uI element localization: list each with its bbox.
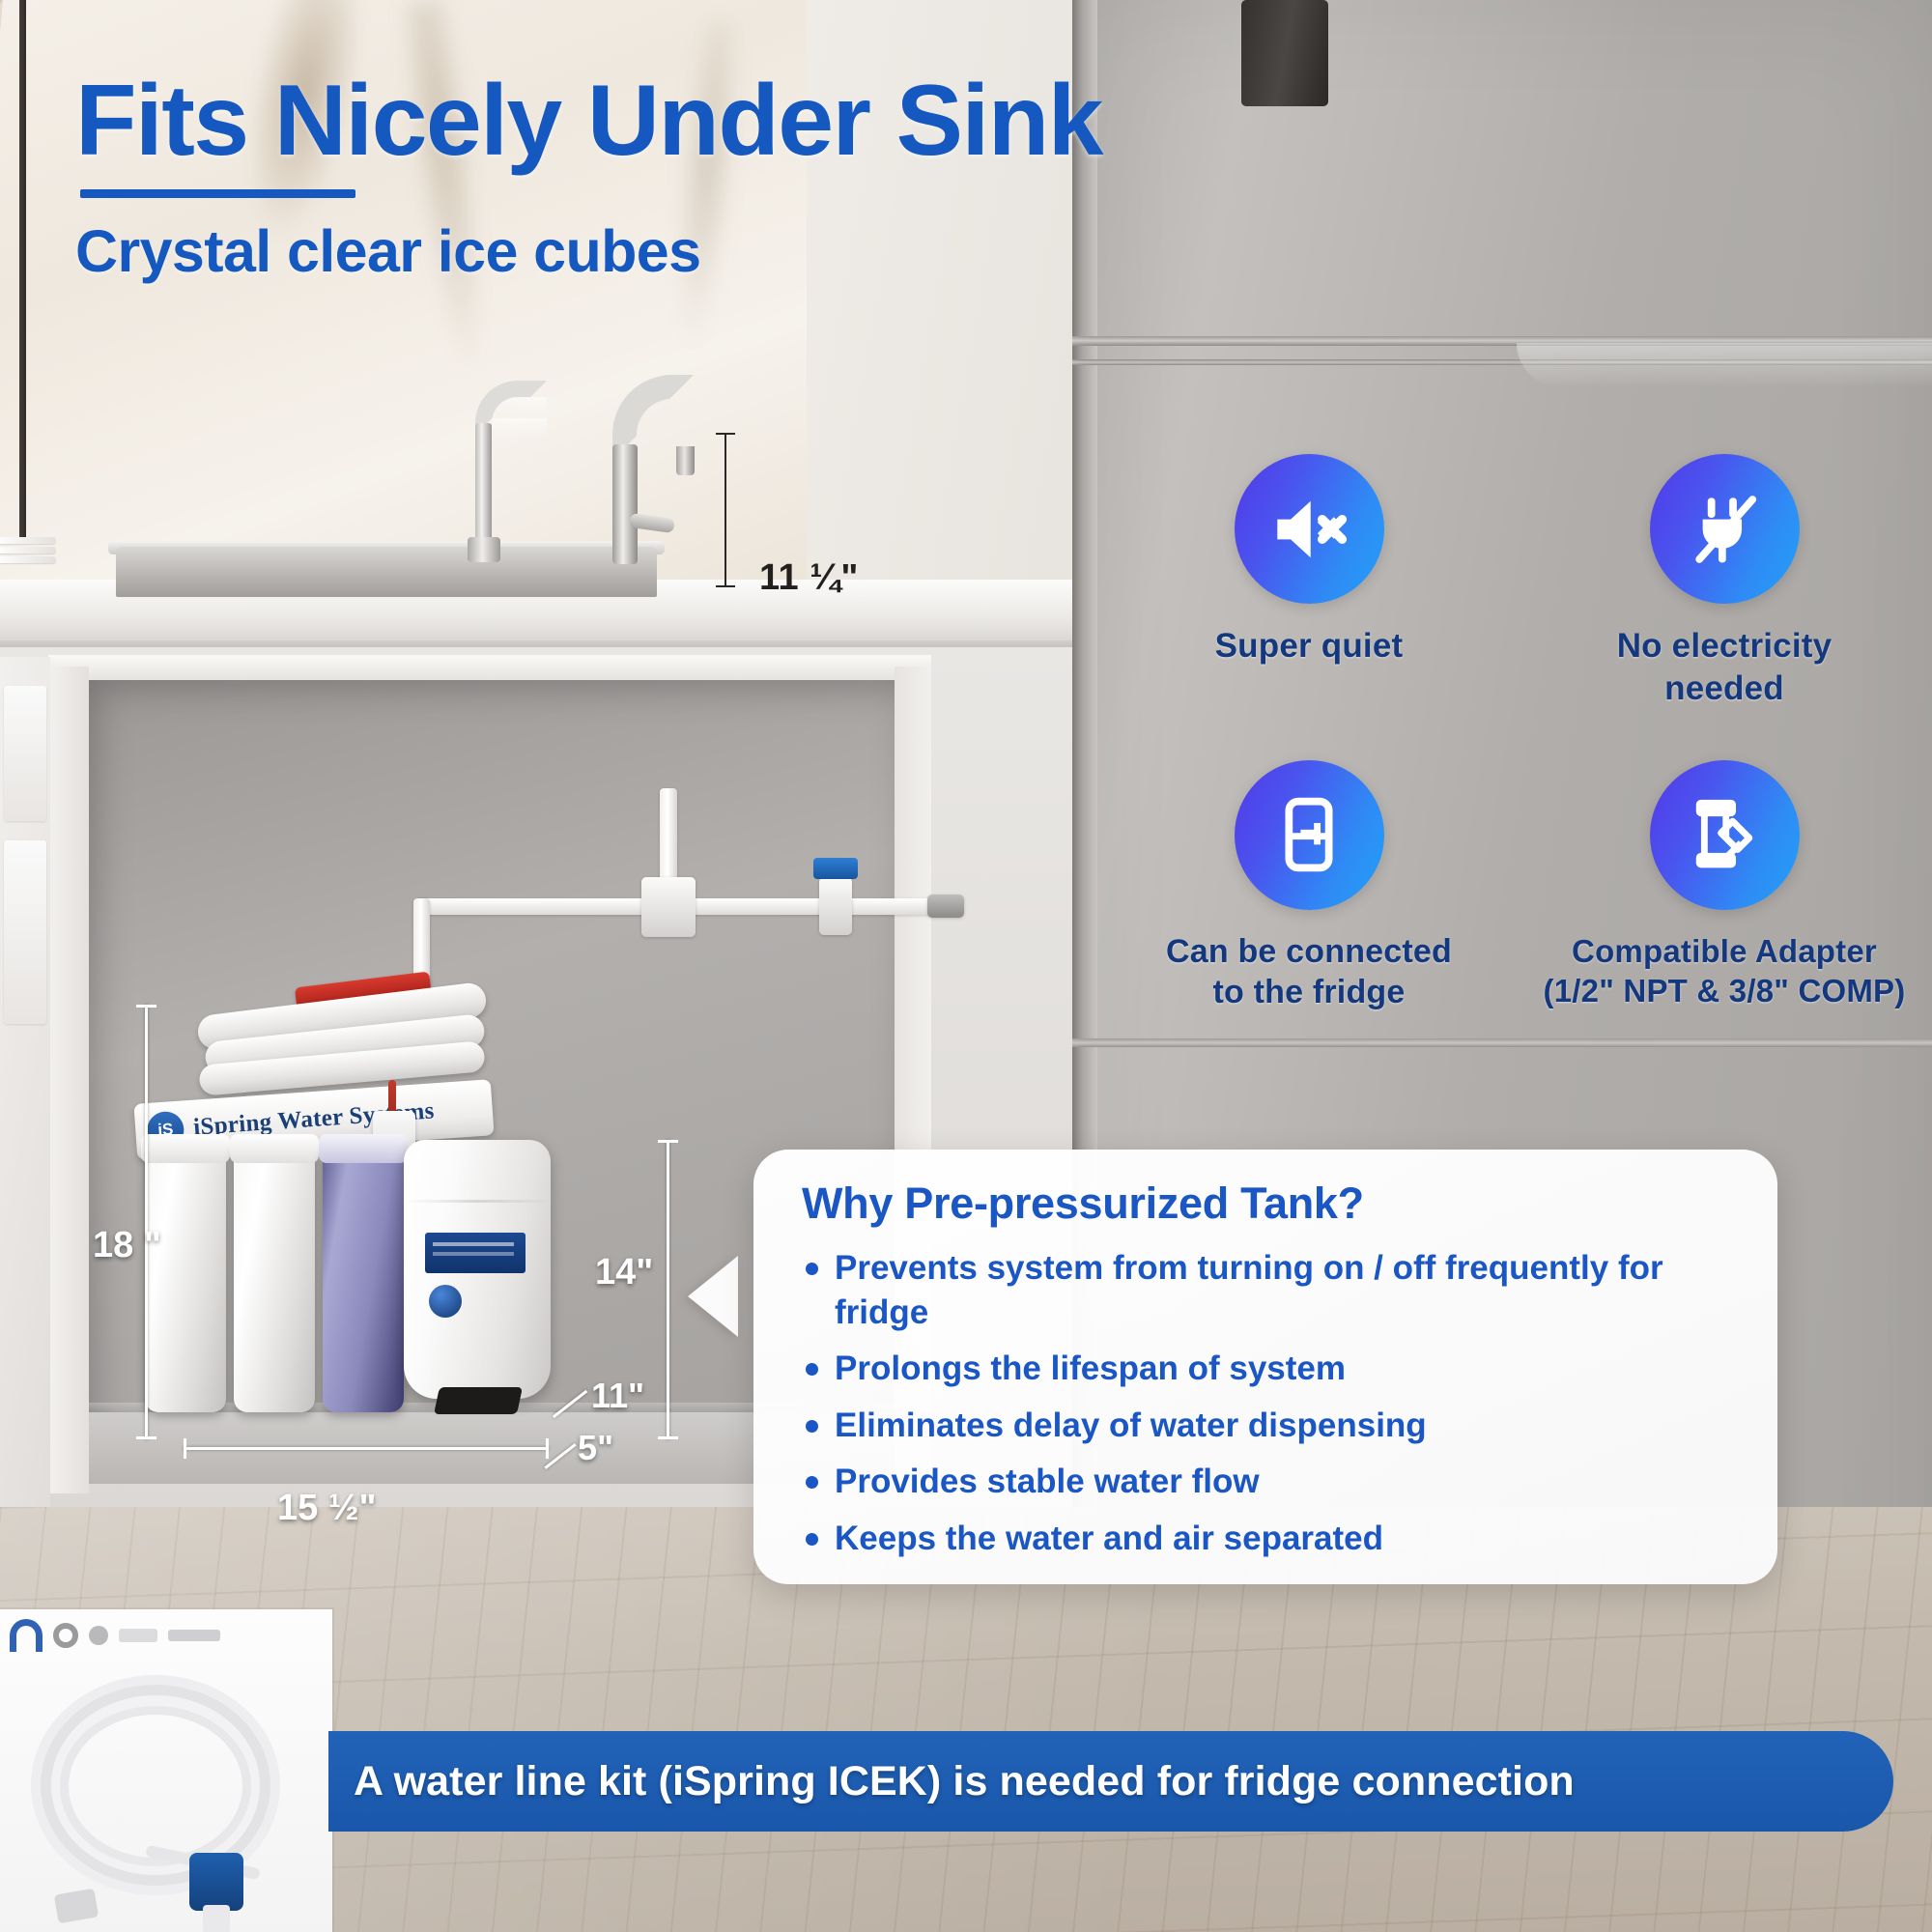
filter-housing-2 (234, 1146, 315, 1412)
filter-housing-3-clear (323, 1146, 404, 1412)
tank-valve-knob (429, 1285, 462, 1318)
list-item: Prolongs the lifespan of system (802, 1347, 1735, 1391)
tank-height-label: 14" (595, 1252, 653, 1293)
tank-height-dimension-line (667, 1140, 669, 1439)
feature-label: No electricityneeded (1617, 625, 1833, 710)
filter-housings (145, 1146, 435, 1435)
speaker-mute-icon (1235, 454, 1384, 604)
system-height-dimension-line (145, 1005, 148, 1439)
feature-label: Can be connectedto the fridge (1166, 931, 1452, 1013)
faucet-height-dimension-line (724, 433, 726, 587)
filter-housing-1 (145, 1146, 226, 1412)
fridge-connection-icon (1235, 760, 1384, 910)
cabinet-frame-left (48, 667, 89, 1493)
washer-icon (89, 1626, 108, 1645)
system-height-label: 18 " (93, 1225, 161, 1266)
pipe-adapter-icon (1650, 760, 1800, 910)
kit-small-parts (10, 1619, 220, 1652)
water-line-kit-banner: A water line kit (iSpring ICEK) is neede… (328, 1731, 1893, 1832)
tube-insert-icon (168, 1630, 220, 1641)
cabinet-top-rail (48, 655, 931, 680)
u-clip-icon (10, 1619, 43, 1652)
tank-sticker (425, 1233, 526, 1273)
callout-pointer (688, 1256, 738, 1337)
page-title: Fits Nicely Under Sink (75, 70, 1235, 172)
system-depth-label: 5" (578, 1428, 613, 1468)
product-infographic: 11 ¼" iS iSpring Water Systems (0, 0, 1932, 1932)
shutoff-body (819, 877, 852, 935)
feature-fridge-connection: Can be connectedto the fridge (1101, 760, 1517, 1013)
tee-fitting (641, 877, 696, 937)
kit-blue-valve (189, 1853, 243, 1911)
headline-block: Fits Nicely Under Sink Crystal clear ice… (75, 70, 1235, 285)
page-subtitle: Crystal clear ice cubes (75, 217, 1235, 285)
system-width-dimension-line (184, 1447, 549, 1450)
water-line-kit-inset (0, 1609, 332, 1932)
list-item: Prevents system from turning on / off fr… (802, 1246, 1735, 1334)
list-item: Keeps the water and air separated (802, 1517, 1735, 1561)
feature-compatible-adapter: Compatible Adapter(1/2" NPT & 3/8" COMP) (1517, 760, 1932, 1013)
no-electricity-plug-icon (1650, 454, 1800, 604)
benefit-list: Prevents system from turning on / off fr… (802, 1246, 1735, 1560)
pre-pressurized-tank (404, 1140, 551, 1399)
list-item: Provides stable water flow (802, 1460, 1735, 1504)
tank-depth-label: 11" (591, 1376, 644, 1416)
shutoff-valve-handle (813, 858, 858, 879)
headline-rule (80, 189, 355, 198)
adapter-piece-icon (119, 1629, 157, 1642)
banner-text: A water line kit (iSpring ICEK) is neede… (354, 1758, 1575, 1805)
stacked-plates (0, 537, 56, 570)
feature-label: Compatible Adapter(1/2" NPT & 3/8" COMP) (1544, 931, 1906, 1011)
membrane-bank (180, 956, 498, 1092)
card-title: Why Pre-pressurized Tank? (802, 1179, 1735, 1229)
feature-no-electricity: No electricityneeded (1517, 454, 1932, 710)
why-pre-pressurized-tank-card: Why Pre-pressurized Tank? Prevents syste… (753, 1150, 1777, 1584)
list-item: Eliminates delay of water dispensing (802, 1404, 1735, 1448)
pipe-end-cap (927, 895, 964, 918)
reverse-osmosis-system: iS iSpring Water Systems (145, 956, 551, 1497)
upper-cabinet-edge (19, 0, 26, 541)
faucet-height-label: 11 ¼" (759, 557, 859, 599)
kitchen-faucet (576, 369, 711, 562)
feature-grid: Super quiet No electricityneeded (1101, 454, 1932, 1013)
system-width-label: 15 ½" (277, 1488, 377, 1529)
fridge-handle (1241, 0, 1328, 106)
tubing-coil-inner (60, 1706, 251, 1866)
kit-fitting (54, 1889, 99, 1924)
feature-super-quiet: Super quiet (1101, 454, 1517, 710)
ferrule-icon (53, 1623, 78, 1648)
cabinet-side-drawers (0, 657, 50, 1526)
tank-foot (434, 1387, 523, 1414)
ro-faucet (454, 348, 570, 560)
feature-label: Super quiet (1215, 625, 1404, 668)
